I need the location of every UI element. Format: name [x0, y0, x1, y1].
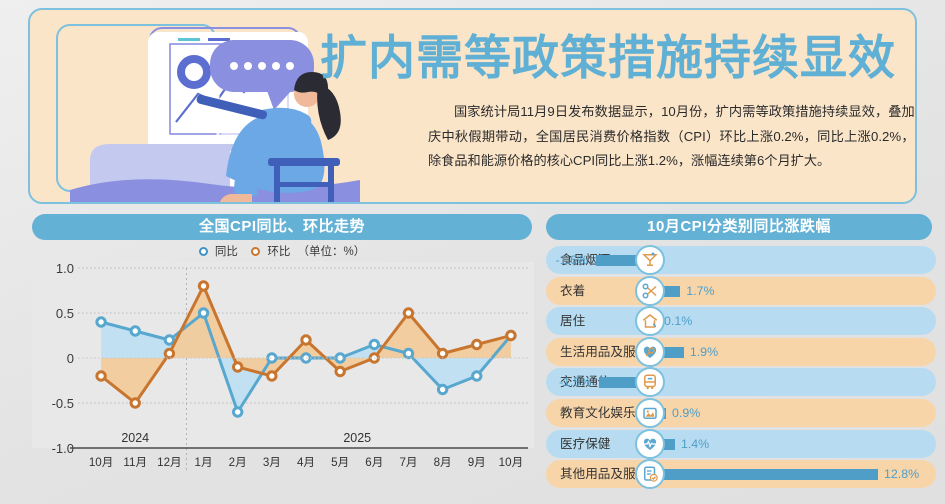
bar-row[interactable]: 居住0.1% — [546, 307, 936, 335]
bar-row-label: 衣着 — [560, 277, 585, 305]
x-axis-tick-label: 9月 — [468, 456, 486, 469]
data-point — [404, 309, 412, 317]
y-axis-tick-label: -0.5 — [52, 396, 74, 411]
data-point — [438, 385, 446, 393]
x-axis-tick-label: 11月 — [123, 456, 147, 469]
bar-value-label: 1.9% — [690, 338, 718, 366]
legend-dot-blue — [199, 247, 208, 256]
x-axis-tick-label: 5月 — [331, 456, 349, 469]
x-axis-tick-label: 4月 — [297, 456, 315, 469]
bus-icon — [635, 367, 665, 397]
cocktail-glass-icon — [635, 245, 665, 275]
x-axis-year-label: 2025 — [343, 431, 371, 445]
heart-pulse-icon — [635, 429, 665, 459]
data-point — [97, 318, 105, 326]
left-panel-heading: 全国CPI同比、环比走势 — [32, 214, 532, 240]
bar-row[interactable]: 医疗保健1.4% — [546, 430, 936, 458]
bar-row[interactable]: 衣着1.7% — [546, 277, 936, 305]
data-point — [473, 372, 481, 380]
x-axis-tick-label: 10月 — [499, 456, 524, 469]
x-axis-tick-label: 3月 — [263, 456, 281, 469]
data-point — [233, 408, 241, 416]
cpi-line-chart: 1.00.50-0.5-1.02024202510月11月12月1月2月3月4月… — [32, 262, 534, 494]
bar-fill — [650, 469, 878, 480]
legend-label-huanbi: 环比 — [267, 246, 290, 258]
bar-row-label: 医疗保健 — [560, 430, 610, 458]
data-point — [199, 282, 207, 290]
bar-value-label: 0.1% — [664, 307, 692, 335]
clipboard-check-icon — [635, 459, 665, 489]
data-point — [233, 363, 241, 371]
chart-legend: 同比 环比 （单位：%） — [32, 243, 532, 261]
legend-dot-orange — [251, 247, 260, 256]
y-axis-tick-label: 0.5 — [56, 306, 74, 321]
page-title: 扩内需等政策措施持续显效 — [320, 24, 917, 92]
bar-value-label: -1.6% — [556, 246, 588, 274]
x-axis-tick-label: 8月 — [434, 456, 452, 469]
data-point — [438, 349, 446, 357]
data-point — [302, 336, 310, 344]
data-point — [336, 367, 344, 375]
data-point — [370, 340, 378, 348]
bar-row-label: 教育文化娱乐 — [560, 399, 636, 427]
bar-value-label: 1.7% — [686, 277, 714, 305]
data-point — [131, 327, 139, 335]
x-axis-tick-label: 6月 — [365, 456, 383, 469]
analyst-presenting-chart-illustration — [30, 10, 360, 204]
x-axis-tick-label: 7月 — [399, 456, 417, 469]
y-axis-tick-label: 0 — [67, 351, 74, 366]
bar-row-label: 居住 — [560, 307, 585, 335]
cpi-category-bar-chart: 食品烟酒-1.6%衣着1.7%居住0.1%生活用品及服务1.9%交通通信-1.5… — [546, 246, 936, 496]
bar-row[interactable]: 生活用品及服务1.9% — [546, 338, 936, 366]
bar-row[interactable]: 交通通信-1.5% — [546, 368, 936, 396]
data-point — [131, 399, 139, 407]
bar-row[interactable]: 其他用品及服务12.8% — [546, 460, 936, 488]
picture-frame-icon — [635, 398, 665, 428]
bar-row[interactable]: 食品烟酒-1.6% — [546, 246, 936, 274]
right-panel-heading: 10月CPI分类别同比涨跌幅 — [546, 214, 932, 240]
bar-value-label: 0.9% — [672, 399, 700, 427]
x-axis-tick-label: 12月 — [157, 456, 182, 469]
data-point — [165, 336, 173, 344]
x-axis-year-label: 2024 — [121, 431, 149, 445]
data-point — [473, 340, 481, 348]
x-axis-tick-label: 10月 — [89, 456, 114, 469]
x-axis-tick-label: 2月 — [229, 456, 247, 469]
bar-value-label: -1.5% — [559, 368, 591, 396]
data-point — [97, 372, 105, 380]
data-point — [507, 331, 515, 339]
y-axis-tick-label: 1.0 — [56, 262, 74, 276]
data-point — [404, 349, 412, 357]
data-point — [268, 372, 276, 380]
data-point — [165, 349, 173, 357]
scissors-icon — [635, 276, 665, 306]
bar-value-label: 12.8% — [884, 460, 919, 488]
bar-row[interactable]: 教育文化娱乐0.9% — [546, 399, 936, 427]
hero-body-text: 国家统计局11月9日发布数据显示，10月份，扩内需等政策措施持续显效，叠加国庆中… — [428, 100, 917, 174]
data-point — [199, 309, 207, 317]
legend-label-tongbi: 同比 — [215, 246, 238, 258]
bar-value-label: 1.4% — [681, 430, 709, 458]
house-icon — [635, 306, 665, 336]
hero-banner: 扩内需等政策措施持续显效 国家统计局11月9日发布数据显示，10月份，扩内需等政… — [28, 8, 917, 204]
x-axis-tick-label: 1月 — [195, 456, 213, 469]
household-goods-icon — [635, 337, 665, 367]
legend-unit: （单位：%） — [298, 246, 366, 258]
